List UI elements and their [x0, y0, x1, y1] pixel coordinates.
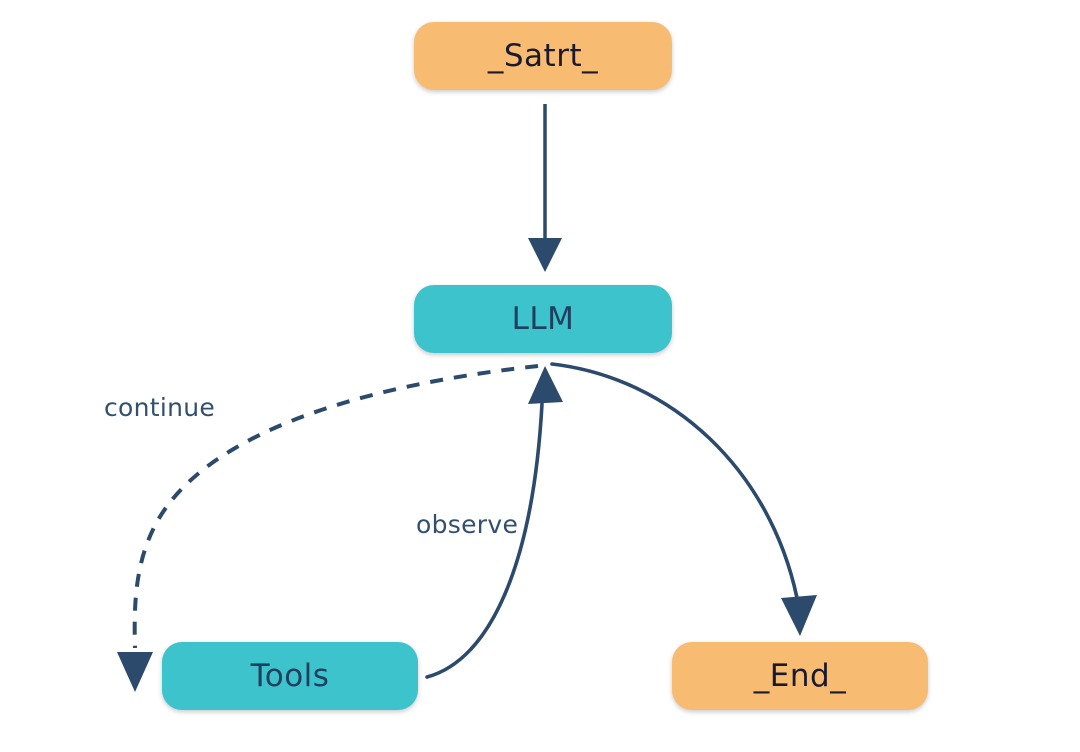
- node-llm[interactable]: LLM: [414, 285, 672, 353]
- node-tools-label: Tools: [251, 658, 330, 694]
- node-end[interactable]: _End_: [672, 642, 928, 710]
- edge-llm-to-end-arrowhead: [781, 595, 817, 636]
- diagram-canvas: _Satrt_ LLM Tools _End_ continue observe: [0, 0, 1080, 752]
- node-start-label: _Satrt_: [488, 38, 598, 74]
- edge-llm-to-end: [552, 364, 817, 636]
- edge-tools-to-llm-arrowhead: [528, 366, 563, 404]
- node-tools[interactable]: Tools: [162, 642, 418, 710]
- node-end-label: _End_: [754, 658, 846, 694]
- node-start[interactable]: _Satrt_: [414, 22, 672, 90]
- edge-label-continue: continue: [104, 393, 215, 422]
- node-llm-label: LLM: [512, 301, 575, 337]
- edge-llm-to-end-line: [552, 364, 797, 598]
- edge-tools-to-llm-line: [427, 404, 542, 677]
- edge-start-to-llm: [528, 104, 562, 272]
- edge-layer: [0, 0, 1080, 752]
- edge-llm-to-tools-arrowhead: [117, 652, 153, 692]
- edge-start-to-llm-arrowhead: [528, 238, 562, 272]
- edge-label-observe: observe: [416, 510, 518, 539]
